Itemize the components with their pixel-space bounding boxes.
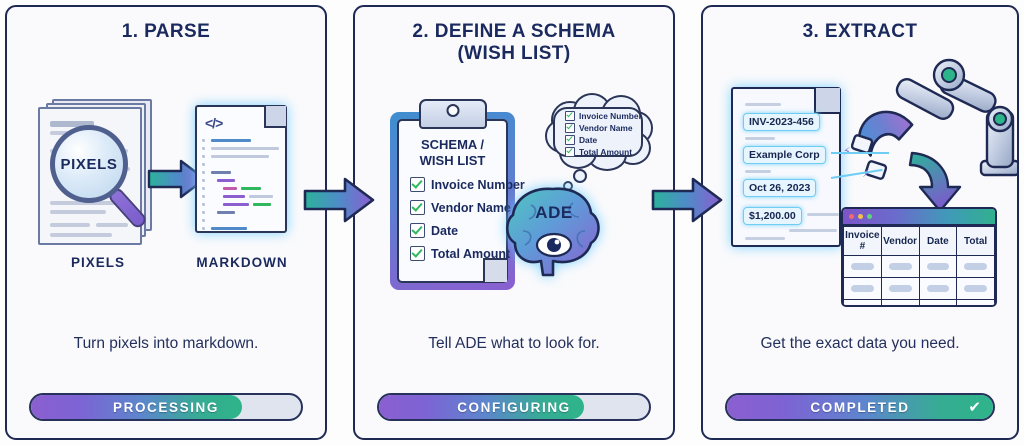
extracted-data-table: Invoice # Vendor Date Total [843, 226, 995, 307]
magnifier-label: PIXELS [61, 156, 118, 173]
thought-item-label: Total Amount [579, 147, 632, 157]
magnifier-icon: PIXELS [50, 125, 128, 203]
table-column-header[interactable]: Invoice # [844, 227, 882, 256]
status-bar-define-schema[interactable]: CONFIGURING [377, 393, 651, 421]
table-cell [957, 300, 995, 308]
field-leader-line [831, 152, 889, 154]
table-cell [881, 256, 919, 278]
panel-title-parse: 1. PARSE [7, 21, 325, 43]
table-cell [957, 278, 995, 300]
invoice-document-art: INV-2023-456 Example Corp Oct 26, 2023 $… [731, 87, 841, 247]
invoice-field-number: INV-2023-456 [743, 113, 820, 131]
panel-caption-define-schema: Tell ADE what to look for. [355, 335, 673, 353]
pixels-caption: PIXELS [34, 255, 162, 270]
checkbox-icon [565, 111, 575, 121]
checkbox-icon [565, 123, 575, 133]
status-bar-extract[interactable]: COMPLETED ✔ [725, 393, 995, 421]
markdown-document-art: </> [195, 105, 289, 235]
checkbox-icon [565, 135, 575, 145]
schema-item-label: Date [431, 224, 458, 238]
checkbox-icon [565, 147, 575, 157]
thought-item-label: Invoice Number [579, 111, 642, 121]
markdown-caption: MARKDOWN [195, 255, 289, 270]
table-row[interactable] [844, 278, 995, 300]
clipboard-heading: SCHEMA / WISH LIST [399, 137, 506, 170]
checkbox-icon[interactable] [410, 223, 425, 238]
invoice-field-vendor: Example Corp [743, 146, 826, 164]
thought-item: Invoice Number [565, 111, 642, 121]
check-icon: ✔ [968, 398, 981, 416]
status-bar-label: PROCESSING [31, 395, 301, 419]
table-row[interactable] [844, 256, 995, 278]
table-cell [919, 256, 957, 278]
brain-label: ADE [501, 203, 607, 223]
thought-bubble-art: Invoice Number Vendor Name Date Total Am… [543, 93, 655, 185]
table-row[interactable] [844, 300, 995, 308]
panel-title-extract: 3. EXTRACT [703, 21, 1017, 43]
window-title-bar [843, 209, 995, 226]
connector-arrow-2-icon [651, 176, 725, 224]
checkbox-icon[interactable] [410, 246, 425, 261]
traffic-light-minimize-icon[interactable] [858, 214, 863, 219]
panel-caption-parse: Turn pixels into markdown. [7, 335, 325, 353]
table-cell [881, 300, 919, 308]
code-icon: </> [205, 115, 222, 131]
checkbox-icon[interactable] [410, 200, 425, 215]
results-window: Invoice # Vendor Date Total [841, 207, 997, 307]
pixels-document-art: PIXELS [34, 99, 162, 249]
table-column-header[interactable]: Vendor [881, 227, 919, 256]
status-bar-parse[interactable]: PROCESSING [29, 393, 303, 421]
status-bar-label: CONFIGURING [379, 395, 649, 419]
table-cell [957, 256, 995, 278]
thought-item: Date [565, 135, 597, 145]
schema-item[interactable]: Vendor Name [410, 200, 511, 215]
brain-ade-art: ADE [501, 183, 607, 281]
thought-item-label: Vendor Name [579, 123, 633, 133]
clipboard-art: SCHEMA / WISH LIST Invoice Number Vendor… [390, 112, 515, 290]
schema-item[interactable]: Date [410, 223, 458, 238]
table-cell [844, 256, 882, 278]
traffic-light-close-icon[interactable] [849, 214, 854, 219]
thought-item-label: Date [579, 135, 597, 145]
invoice-field-date: Oct 26, 2023 [743, 179, 816, 197]
workflow-diagram: 1. PARSE PIXELS PIXELS [0, 0, 1024, 445]
checkbox-icon[interactable] [410, 177, 425, 192]
table-cell [844, 300, 882, 308]
table-cell [919, 300, 957, 308]
table-header-row: Invoice # Vendor Date Total [844, 227, 995, 256]
table-cell [844, 278, 882, 300]
invoice-field-total: $1,200.00 [743, 207, 802, 225]
table-cell [881, 278, 919, 300]
panel-define-schema: 2. DEFINE A SCHEMA (WISH LIST) SCHEMA / … [353, 5, 675, 440]
thought-item: Vendor Name [565, 123, 633, 133]
table-column-header[interactable]: Total [957, 227, 995, 256]
panel-parse: 1. PARSE PIXELS PIXELS [5, 5, 327, 440]
panel-extract: 3. EXTRACT [701, 5, 1019, 440]
table-cell [919, 278, 957, 300]
panel-caption-extract: Get the exact data you need. [703, 335, 1017, 353]
connector-arrow-1-icon [303, 176, 377, 224]
thought-item: Total Amount [565, 147, 632, 157]
clipboard-clamp-icon [419, 99, 487, 129]
schema-item-label: Vendor Name [431, 201, 511, 215]
table-column-header[interactable]: Date [919, 227, 957, 256]
panel-title-define-schema: 2. DEFINE A SCHEMA (WISH LIST) [355, 21, 673, 66]
status-bar-label: COMPLETED [727, 395, 993, 419]
traffic-light-maximize-icon[interactable] [867, 214, 872, 219]
